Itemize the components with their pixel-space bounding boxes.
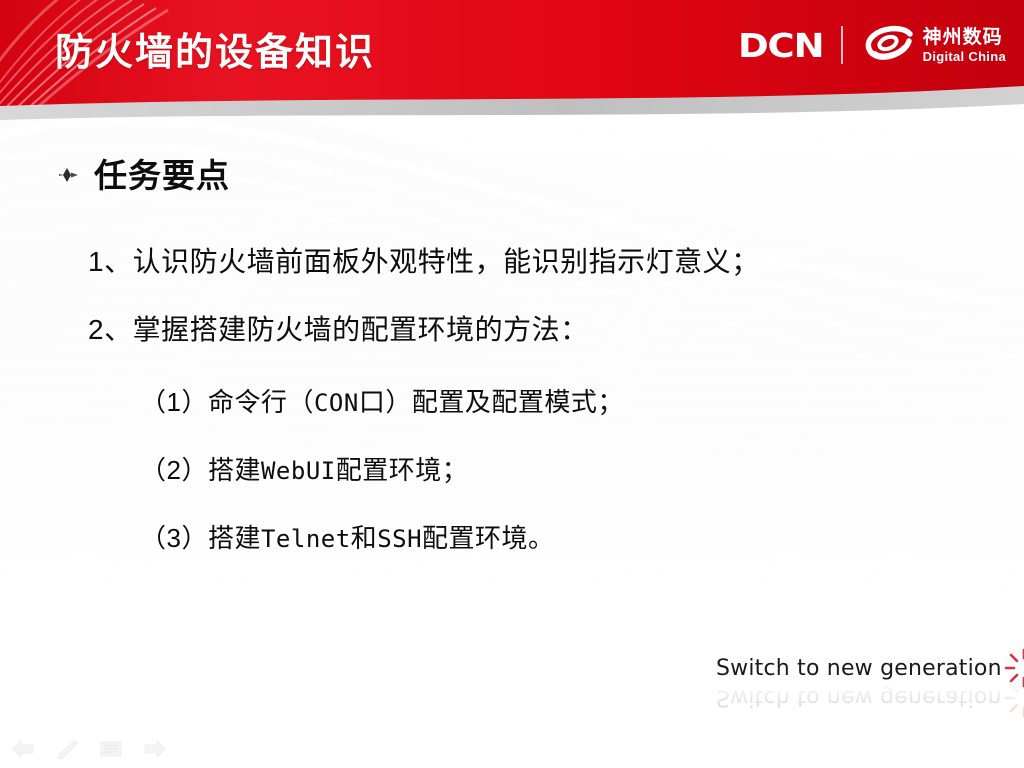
task-subitem-3-prefix: （3）搭建 <box>140 523 261 553</box>
task-subitem-3-middle: 和 <box>351 523 378 553</box>
tagline-text: Switch to new generation <box>716 656 1002 681</box>
slide-canvas: 防火墙的设备知识 DCN 神州数码 Digital China 任务要点 1 <box>0 0 1024 768</box>
task-item-2: 2、掌握搭建防火墙的配置环境的方法： <box>88 308 589 348</box>
task-subitem-3-mono2: SSH <box>377 525 422 553</box>
diamond-bullet-icon <box>58 167 80 183</box>
digital-china-english: Digital China <box>923 50 1006 63</box>
task-subitem-2: （2）搭建WebUI配置环境； <box>140 450 468 487</box>
previous-slide-icon[interactable] <box>10 738 36 760</box>
pen-annotation-icon[interactable] <box>54 738 80 760</box>
task-subitem-2-mono: WebUI <box>261 457 336 485</box>
task-item-1: 1、认识防火墙前面板外观特性，能识别指示灯意义； <box>88 240 760 280</box>
task-subitem-1-suffix: 口）配置及配置模式； <box>359 387 624 417</box>
slideshow-nav-controls <box>10 738 168 760</box>
slide-content: 任务要点 1、认识防火墙前面板外观特性，能识别指示灯意义； 2、掌握搭建防火墙的… <box>0 150 1024 196</box>
task-subitem-3-mono: Telnet <box>261 525 351 553</box>
starburst-reflection-icon <box>1004 678 1024 718</box>
notes-icon[interactable] <box>98 738 124 760</box>
task-subitem-3-suffix: 配置环境。 <box>422 523 555 553</box>
task-subitem-1-prefix: （1）命令行（ <box>140 387 314 417</box>
vertical-divider-icon <box>841 26 843 64</box>
task-subitem-2-suffix: 配置环境； <box>336 455 469 485</box>
task-subitem-3: （3）搭建Telnet和SSH配置环境。 <box>140 518 555 555</box>
tagline-reflection-text: Switch to new generation <box>716 686 1002 711</box>
task-subitem-1: （1）命令行（CON口）配置及配置模式； <box>140 382 624 419</box>
next-slide-icon[interactable] <box>142 738 168 760</box>
task-subitem-2-prefix: （2）搭建 <box>140 455 261 485</box>
tagline-block: Switch to new generation Switch to new g… <box>716 648 1006 738</box>
digital-china-chinese: 神州数码 <box>923 28 1006 47</box>
dcn-wordmark: DCN <box>738 29 823 62</box>
brand-logo: DCN 神州数码 Digital China <box>738 20 1006 70</box>
section-heading-row: 任务要点 <box>58 150 1024 196</box>
digital-china-name: 神州数码 Digital China <box>923 28 1006 63</box>
digital-china-swoosh-icon <box>863 25 915 65</box>
task-subitem-1-mono: CON <box>314 389 359 417</box>
tagline-reflection: Switch to new generation <box>716 678 1024 718</box>
page-title: 防火墙的设备知识 <box>55 21 375 76</box>
section-heading: 任务要点 <box>94 149 230 197</box>
